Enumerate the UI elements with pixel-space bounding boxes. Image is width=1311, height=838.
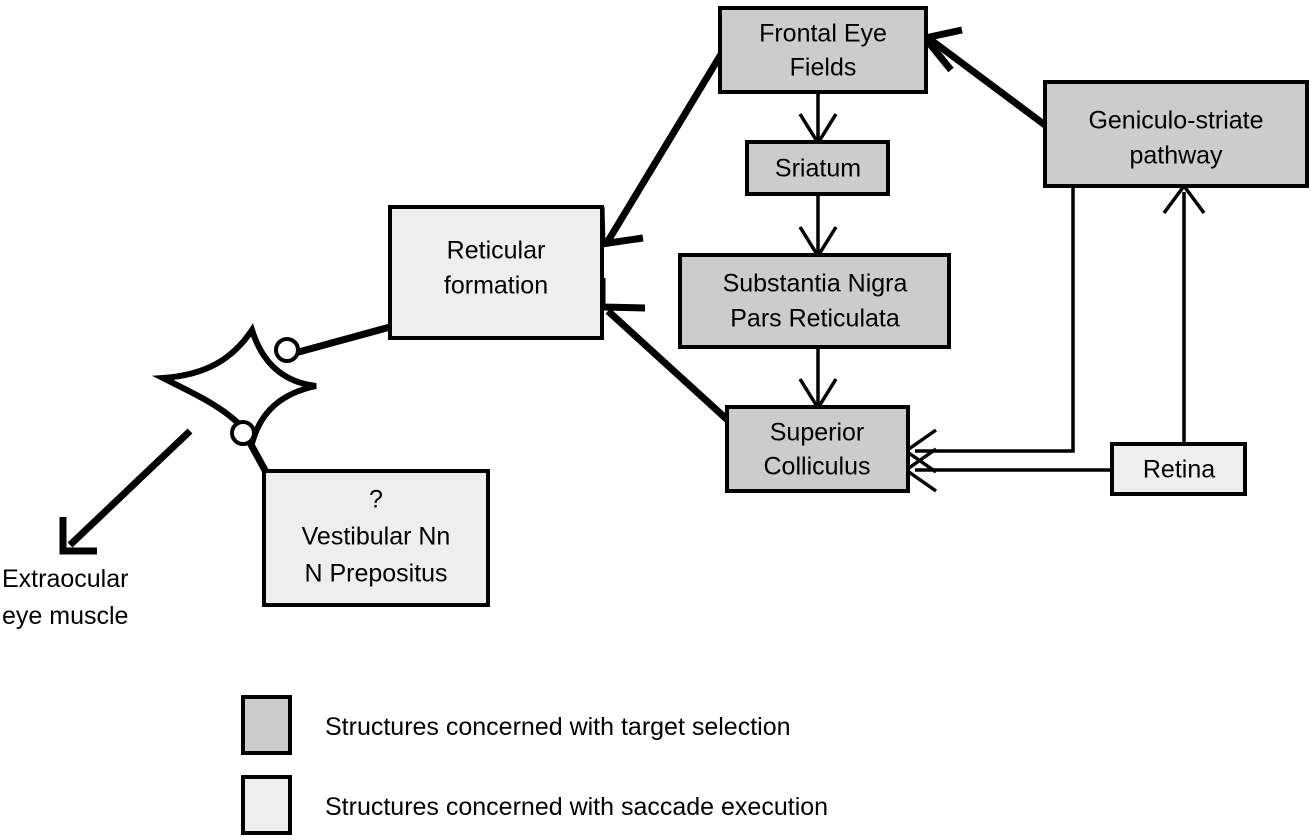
extraocular-eye-muscle-line1: Extraocular: [2, 565, 128, 593]
label-extraocular-eye-muscle: Extraocular eye muscle: [2, 565, 128, 630]
node-reticular-formation-line1: Reticular: [447, 237, 546, 265]
node-geniculo-striate-line2: pathway: [1129, 142, 1223, 170]
legend-swatch-saccade-execution: [243, 777, 290, 833]
legend-item-target-selection: Structures concerned with target selecti…: [243, 697, 791, 753]
node-vestibular-line1: ?: [369, 486, 383, 514]
synapse-upper-icon: [276, 339, 298, 361]
node-reticular-formation[interactable]: Reticular formation: [390, 207, 602, 338]
edge-reticular-formation-to-neuron: [295, 327, 390, 353]
edge-vestibular-to-neuron: [249, 441, 266, 472]
node-substantia-nigra-pars-reticulata[interactable]: Substantia Nigra Pars Reticulata: [680, 255, 949, 347]
synapse-lower-icon: [232, 422, 254, 444]
node-retina-label: Retina: [1143, 456, 1215, 484]
node-vestibular-nuclei[interactable]: ? Vestibular Nn N Prepositus: [264, 471, 488, 605]
node-frontal-eye-fields[interactable]: Frontal Eye Fields: [720, 8, 926, 92]
node-superior-colliculus[interactable]: Superior Colliculus: [727, 407, 908, 491]
extraocular-eye-muscle-line2: eye muscle: [2, 602, 128, 630]
node-vestibular-line2: Vestibular Nn: [302, 523, 451, 551]
node-frontal-eye-fields-line2: Fields: [790, 54, 857, 82]
diagram-canvas: Frontal Eye Fields Sriatum Substantia Ni…: [0, 0, 1311, 838]
edge-sc-to-reticular-formation-arrowhead: [602, 278, 645, 308]
node-superior-colliculus-line1: Superior: [770, 419, 865, 447]
legend-label-saccade-execution: Structures concerned with saccade execut…: [325, 793, 828, 821]
node-geniculo-striate-pathway[interactable]: Geniculo-striate pathway: [1045, 82, 1307, 186]
edge-fef-to-reticular-formation: [608, 51, 723, 241]
legend-item-saccade-execution: Structures concerned with saccade execut…: [243, 777, 828, 833]
edge-neuron-to-extraocular-eye-muscle: [70, 431, 190, 545]
node-substantia-nigra-line2: Pars Reticulata: [730, 305, 900, 333]
node-reticular-formation-line2: formation: [444, 272, 548, 300]
node-retina[interactable]: Retina: [1112, 444, 1245, 494]
motor-neuron: [163, 330, 316, 444]
edge-geniculo-to-fef: [931, 40, 1049, 128]
node-superior-colliculus-line2: Colliculus: [764, 453, 871, 481]
legend: Structures concerned with target selecti…: [243, 697, 828, 833]
node-frontal-eye-fields-line1: Frontal Eye: [759, 20, 887, 48]
node-substantia-nigra-line1: Substantia Nigra: [723, 270, 908, 298]
legend-swatch-target-selection: [243, 697, 290, 753]
legend-label-target-selection: Structures concerned with target selecti…: [325, 713, 791, 741]
node-vestibular-line3: N Prepositus: [304, 560, 447, 588]
saccade-pathway-diagram: Frontal Eye Fields Sriatum Substantia Ni…: [0, 0, 1311, 838]
edges-layer: [63, 30, 1204, 551]
node-sriatum[interactable]: Sriatum: [747, 142, 888, 194]
node-sriatum-label: Sriatum: [775, 155, 861, 183]
node-geniculo-striate-line1: Geniculo-striate: [1088, 107, 1263, 135]
